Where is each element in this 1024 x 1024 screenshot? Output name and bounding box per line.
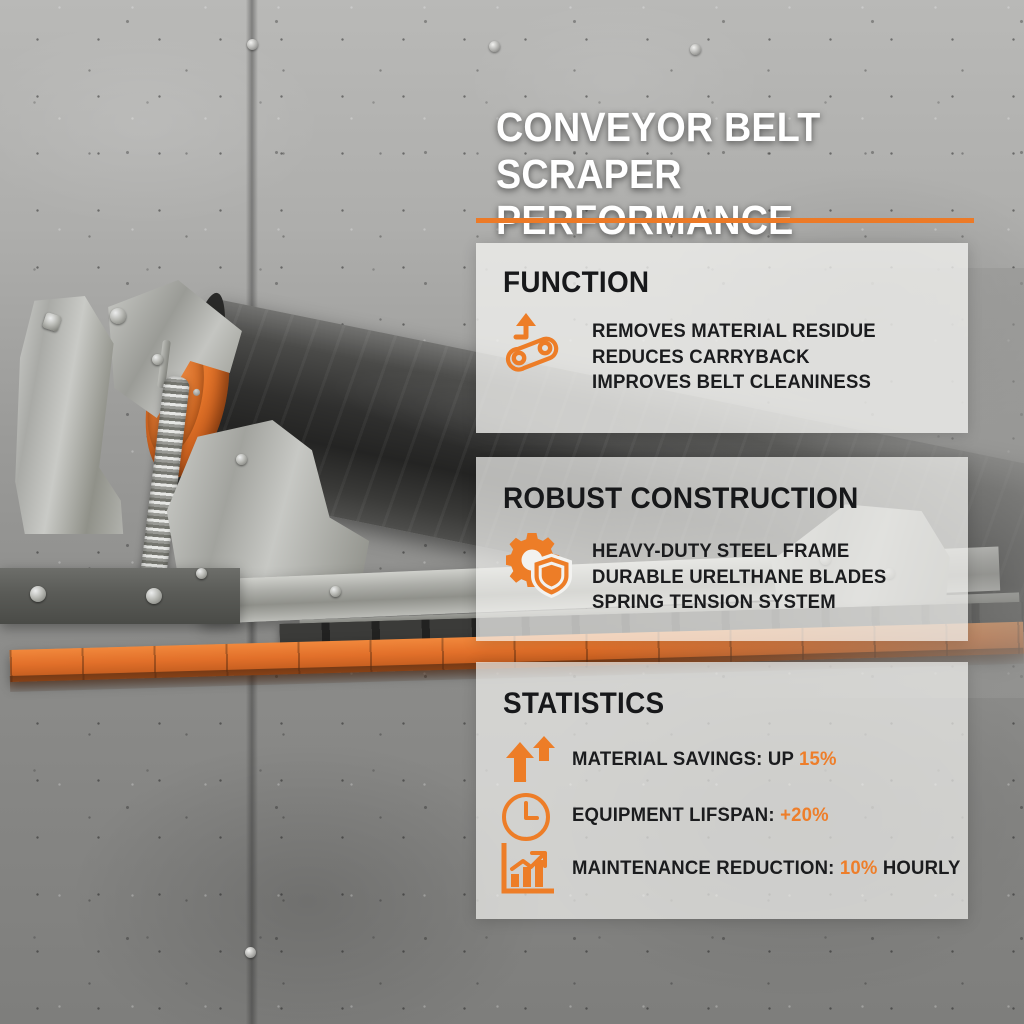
section-heading-statistics: STATISTICS: [503, 687, 664, 721]
stat-label-material-savings: MATERIAL SAVINGS: UP: [572, 748, 799, 770]
title-line-1: CONVEYOR BELT SCRAPER: [496, 104, 956, 197]
conveyor-belt-icon: [502, 311, 566, 375]
infographic-poster: CONVEYOR BELT SCRAPER PERFORMANCE FUNCTI…: [0, 0, 1024, 1024]
bar-chart-icon: [498, 843, 554, 895]
bolt-icon: [152, 354, 163, 365]
bolt-icon: [196, 568, 207, 579]
scraper-swing-arm: [8, 296, 128, 534]
wall-bolt-icon: [245, 947, 256, 958]
function-bullet-3: IMPROVES BELT CLEANINESS: [592, 370, 876, 396]
stat-suffix-maintenance-reduction: HOURLY: [877, 857, 960, 879]
wall-bolt-icon: [247, 39, 258, 50]
stat-value-material-savings: 15%: [799, 748, 837, 770]
up-arrows-icon: [503, 736, 557, 782]
title-divider-rule: [476, 218, 974, 223]
stat-row-maintenance-reduction: MAINTENANCE REDUCTION: 10% HOURLY: [572, 857, 961, 880]
section-heading-robust-construction: ROBUST CONSTRUCTION: [503, 482, 859, 516]
bolt-icon: [330, 586, 341, 597]
construction-bullet-3: SPRING TENSION SYSTEM: [592, 590, 886, 616]
clock-icon: [500, 791, 552, 843]
stat-label-equipment-lifespan: EQUIPMENT LIFSPAN:: [572, 804, 780, 826]
bolt-icon: [236, 454, 247, 465]
wall-bolt-icon: [489, 41, 500, 52]
construction-bullet-1: HEAVY-DUTY STEEL FRAME: [592, 539, 886, 565]
gear-shield-icon: [506, 531, 576, 599]
section-heading-function: FUNCTION: [503, 266, 649, 300]
bolt-icon: [146, 588, 162, 604]
function-bullet-list: REMOVES MATERIAL RESIDUE REDUCES CARRYBA…: [592, 319, 876, 396]
function-bullet-2: REDUCES CARRYBACK: [592, 345, 876, 371]
page-title: CONVEYOR BELT SCRAPER PERFORMANCE: [496, 104, 956, 244]
stat-row-equipment-lifespan: EQUIPMENT LIFSPAN: +20%: [572, 804, 829, 827]
wall-bolt-icon: [690, 44, 701, 55]
function-bullet-1: REMOVES MATERIAL RESIDUE: [592, 319, 876, 345]
stat-row-material-savings: MATERIAL SAVINGS: UP 15%: [572, 748, 837, 771]
construction-bullet-2: DURABLE URELTHANE BLADES: [592, 565, 886, 591]
stat-value-equipment-lifespan: +20%: [780, 804, 829, 826]
bolt-icon: [110, 308, 126, 324]
stat-value-maintenance-reduction: 10%: [840, 857, 878, 879]
stat-label-maintenance-reduction: MAINTENANCE REDUCTION:: [572, 857, 840, 879]
bolt-icon: [30, 586, 46, 602]
construction-bullet-list: HEAVY-DUTY STEEL FRAME DURABLE URELTHANE…: [592, 539, 886, 616]
